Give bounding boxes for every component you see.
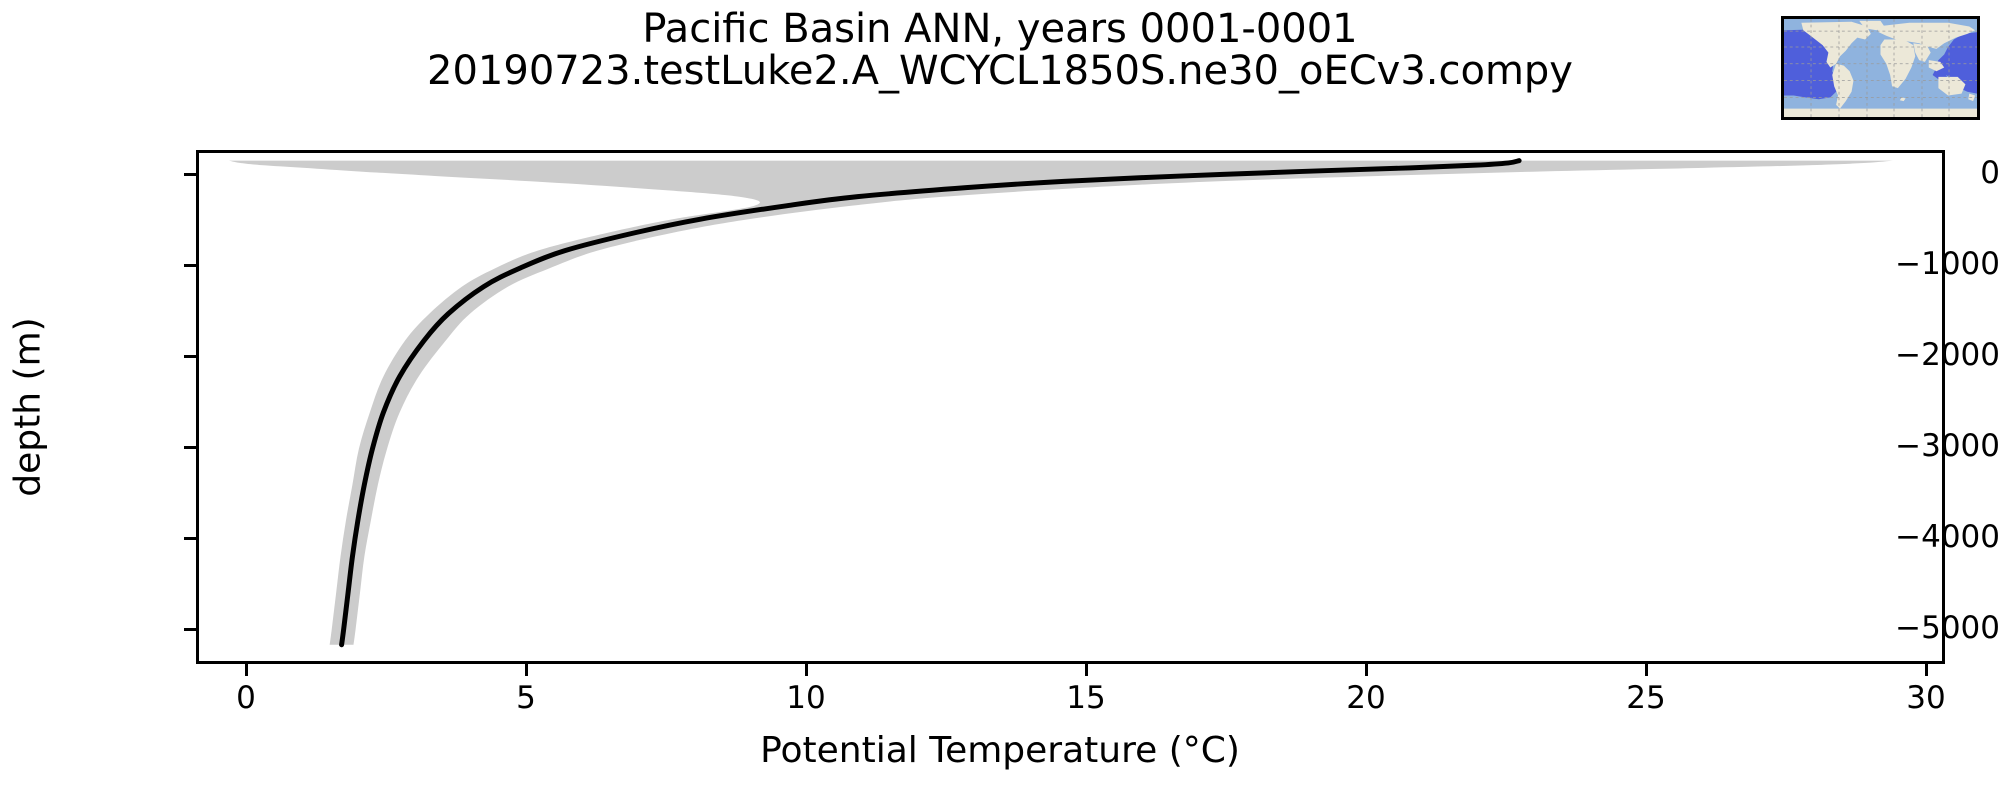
xtick-mark	[1365, 664, 1368, 676]
xtick-label-20: 20	[1346, 680, 1385, 716]
x-axis-label: Potential Temperature (°C)	[0, 730, 2000, 771]
pacific-basin-region-map	[1781, 16, 1980, 120]
ytick-mark	[184, 355, 196, 358]
ytick-mark	[184, 537, 196, 540]
xtick-mark	[805, 664, 808, 676]
xtick-mark	[1645, 664, 1648, 676]
ytick-mark	[184, 264, 196, 267]
xtick-label-15: 15	[1066, 680, 1105, 716]
xtick-mark	[1085, 664, 1088, 676]
ytick-mark	[184, 446, 196, 449]
figure-canvas: 0 −1000 −2000 −3000 −4000 −5000 0 5 10 1…	[0, 0, 2000, 800]
xtick-mark	[1925, 664, 1928, 676]
xtick-label-10: 10	[786, 680, 825, 716]
xtick-label-30: 30	[1906, 680, 1945, 716]
ytick-label-1000: −1000	[1824, 246, 2000, 282]
y-axis-label-container: depth (m)	[0, 150, 56, 664]
world-map-graphic	[1784, 19, 1977, 117]
ytick-label-0: 0	[1824, 155, 2000, 191]
mean-temperature-line	[342, 161, 1520, 645]
xtick-label-25: 25	[1626, 680, 1665, 716]
ytick-label-3000: −3000	[1824, 428, 2000, 464]
ytick-label-4000: −4000	[1824, 519, 2000, 555]
ytick-label-5000: −5000	[1824, 610, 2000, 646]
data-plot	[199, 153, 1942, 661]
plot-axes-frame	[196, 150, 1945, 664]
ytick-label-2000: −2000	[1824, 337, 2000, 373]
xtick-label-0: 0	[236, 680, 256, 716]
ytick-mark	[184, 173, 196, 176]
y-axis-label: depth (m)	[8, 317, 49, 496]
uncertainty-band	[229, 161, 1893, 645]
xtick-mark	[245, 664, 248, 676]
xtick-label-5: 5	[516, 680, 536, 716]
xtick-mark	[525, 664, 528, 676]
ytick-mark	[184, 628, 196, 631]
